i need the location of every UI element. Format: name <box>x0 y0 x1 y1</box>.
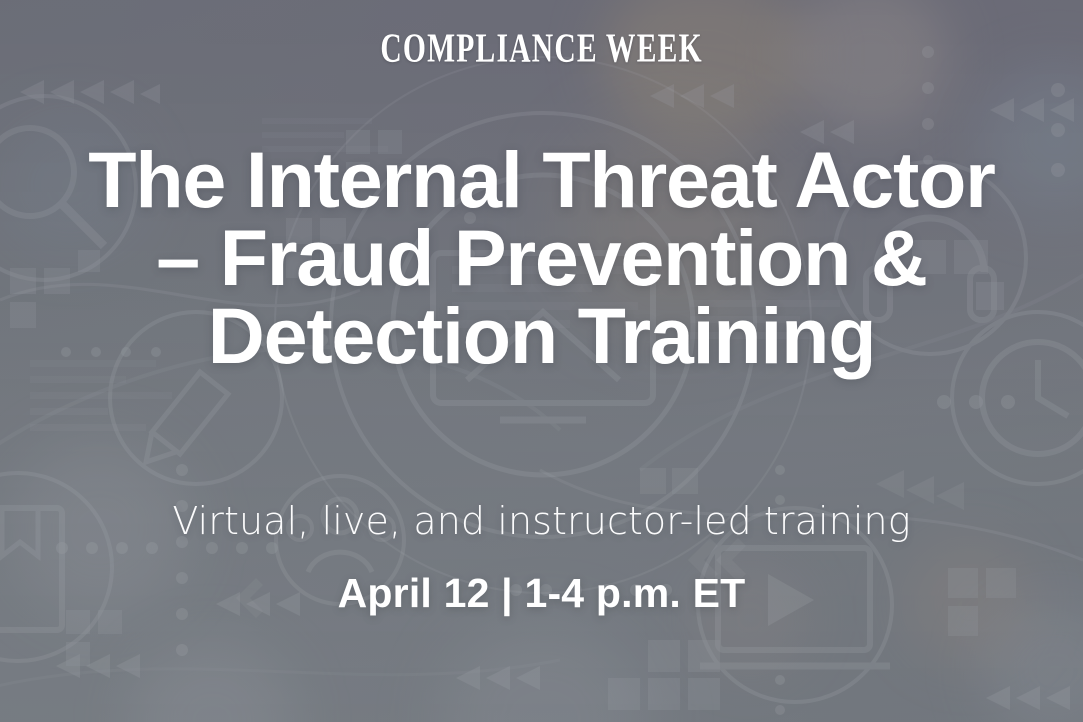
event-format-subtitle: Virtual, live, and instructor-led traini… <box>172 501 910 543</box>
banner-content: COMPLIANCE WEEK The Internal Threat Acto… <box>0 0 1083 722</box>
headline-line-1: The Internal Threat Actor <box>19 141 1064 219</box>
page-title: The Internal Threat Actor – Fraud Preven… <box>19 141 1064 376</box>
event-datetime: April 12 | 1-4 p.m. ET <box>338 571 746 616</box>
compliance-week-logo: COMPLIANCE WEEK <box>380 28 703 69</box>
headline-line-2: – Fraud Prevention & <box>19 219 1064 297</box>
webinar-promo-banner: COMPLIANCE WEEK The Internal Threat Acto… <box>0 0 1083 722</box>
headline-line-3: Detection Training <box>19 297 1064 375</box>
